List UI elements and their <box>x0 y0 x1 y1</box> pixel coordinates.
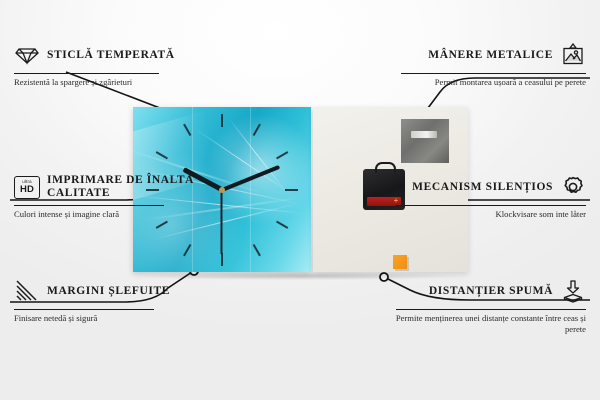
callout-mechanism-rule <box>396 205 586 206</box>
clock-tick <box>253 244 261 256</box>
callout-spacer-rule <box>396 309 586 310</box>
callout-spacer-title: DISTANȚIER SPUMĂ <box>429 285 553 298</box>
callout-print-rule <box>14 205 164 206</box>
clock-tick <box>183 244 191 256</box>
callout-print-description: Culori intense și imagine clară <box>14 209 224 220</box>
callout-spacer: DISTANȚIER SPUMĂ Permite menținerea unei… <box>376 276 586 334</box>
callout-print-title: IMPRIMARE DE ÎNALTĂ CALITATE <box>47 174 197 200</box>
callout-glass-description: Rezistentă la spargere și zgârieturi <box>14 77 224 88</box>
hanger-plate <box>401 119 449 163</box>
callout-glass: STICLĂ TEMPERATĂ Rezistentă la spargere … <box>14 40 224 88</box>
callout-edges-description: Finisare netedă și sigură <box>14 313 224 324</box>
hanger-slot <box>411 131 437 138</box>
callout-handles-title: MÂNERE METALICE <box>428 49 553 62</box>
foam-spacer <box>393 255 407 269</box>
callout-mechanism-description: Klockvisare som inte låter <box>376 209 586 220</box>
callout-handles: MÂNERE METALICE Permit montarea ușoară a… <box>376 40 586 88</box>
callout-print-head: ultra HD IMPRIMARE DE ÎNALTĂ CALITATE <box>14 172 224 202</box>
callout-handles-head: MÂNERE METALICE <box>376 40 586 70</box>
callout-mechanism-head: MECANISM SILENȚIOS <box>376 172 586 202</box>
clock-tick <box>221 253 223 266</box>
callout-glass-rule <box>14 73 159 74</box>
ultra-hd-badge-icon: ultra HD <box>14 174 40 200</box>
callout-glass-head: STICLĂ TEMPERATĂ <box>14 40 224 70</box>
callout-spacer-head: DISTANȚIER SPUMĂ <box>376 276 586 306</box>
clock-tick <box>276 220 288 228</box>
clock-tick <box>221 114 223 127</box>
diamond-icon <box>14 42 40 68</box>
callout-spacer-description: Permite menținerea unei distanțe constan… <box>376 313 586 334</box>
callout-print: ultra HD IMPRIMARE DE ÎNALTĂ CALITATE Cu… <box>14 172 224 220</box>
infographic-canvas: + STICLĂ TEMPERATĂ Rezistentă la sparger… <box>0 0 600 400</box>
arrow-onto-layer-icon <box>560 278 586 304</box>
callout-edges-rule <box>14 309 154 310</box>
callout-mechanism: MECANISM SILENȚIOS Klockvisare som inte … <box>376 172 586 220</box>
framed-picture-hanger-icon <box>560 42 586 68</box>
clock-tick <box>285 189 298 191</box>
callout-edges-title: MARGINI ȘLEFUITE <box>47 285 170 298</box>
callout-handles-rule <box>401 73 586 74</box>
clock-tick <box>156 220 168 228</box>
callout-edges: MARGINI ȘLEFUITE Finisare netedă și sigu… <box>14 276 224 324</box>
callout-mechanism-title: MECANISM SILENȚIOS <box>412 181 553 194</box>
callout-edges-head: MARGINI ȘLEFUITE <box>14 276 224 306</box>
gear-icon <box>560 174 586 200</box>
callout-handles-description: Permit montarea ușoară a ceasului pe per… <box>376 77 586 88</box>
polished-edge-lines-icon <box>14 278 40 304</box>
callout-glass-title: STICLĂ TEMPERATĂ <box>47 49 175 62</box>
ultra-hd-large-text: HD <box>20 185 34 195</box>
clock-tick <box>276 151 288 159</box>
